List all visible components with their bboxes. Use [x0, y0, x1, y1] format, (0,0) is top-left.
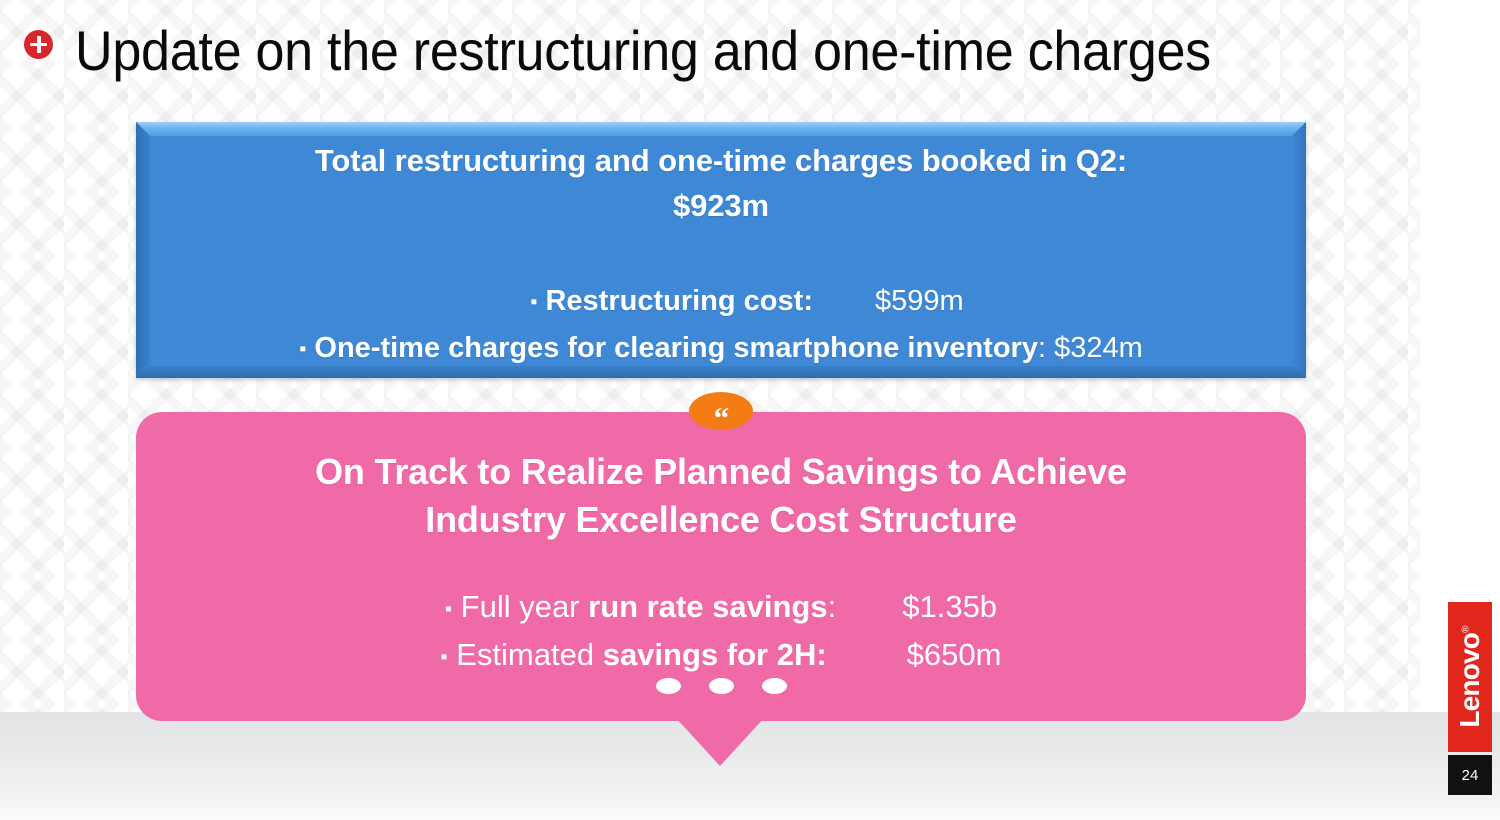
pink-bullet-1-value: $1.35b: [902, 589, 997, 624]
quote-mark-badge: “: [689, 392, 753, 430]
pink-bullet-1-separator: :: [828, 589, 837, 624]
red-plus-circle-icon: [24, 30, 53, 59]
dot-1: [656, 678, 681, 694]
pink-panel-dots: [136, 678, 1306, 694]
blue-panel-bevel-top: [136, 122, 1306, 136]
pink-bullet-1-label: run rate savings: [588, 589, 827, 624]
pink-savings-panel: On Track to Realize Planned Savings to A…: [136, 412, 1306, 721]
pink-panel-heading-line1: On Track to Realize Planned Savings to A…: [166, 448, 1276, 496]
blue-bullet-1-separator: :: [803, 285, 813, 317]
pink-bullet-row-1: ▪ Full year run rate savings:$1.35b: [166, 584, 1276, 632]
square-bullet-icon: ▪: [445, 598, 452, 620]
page-title: Update on the restructuring and one-time…: [75, 14, 1211, 88]
pink-bullet-2-value: $650m: [907, 637, 1002, 672]
dot-3: [762, 678, 787, 694]
slide-canvas: Update on the restructuring and one-time…: [0, 0, 1500, 820]
pink-panel-content: On Track to Realize Planned Savings to A…: [166, 448, 1276, 680]
pink-bullet-1-prefix: Full year: [461, 589, 588, 624]
blue-panel-bevel-left: [136, 122, 150, 378]
square-bullet-icon: ▪: [299, 338, 306, 360]
blue-bullet-1-value: $599m: [875, 285, 964, 317]
lenovo-logo: Lenovo®: [1448, 602, 1492, 752]
pink-bullet-row-2: ▪ Estimated savings for 2H:$650m: [166, 632, 1276, 680]
blue-bullet-2-value: $324m: [1054, 332, 1143, 364]
pink-bullet-2-separator: :: [816, 637, 826, 672]
blue-bullet-2-label: One-time charges for clearing smartphone…: [314, 332, 1038, 364]
pink-bullet-2-label: savings for 2H: [603, 637, 817, 672]
slide-title-row: Update on the restructuring and one-time…: [20, 14, 1420, 92]
blue-bullet-1-label: Restructuring cost: [545, 285, 803, 317]
quote-mark-icon: “: [714, 402, 729, 433]
trademark-icon: ®: [1461, 626, 1472, 633]
lenovo-wordmark-text: Lenovo: [1454, 633, 1485, 728]
dot-2: [709, 678, 734, 694]
blue-panel-content: Total restructuring and one-time charges…: [154, 138, 1288, 364]
blue-panel-bevel-right: [1292, 122, 1306, 378]
pink-panel-bullet-list: ▪ Full year run rate savings:$1.35b ▪ Es…: [166, 584, 1276, 680]
blue-panel-bullet-list: ▪ Restructuring cost:$599m ▪ One-time ch…: [154, 278, 1288, 372]
pink-bullet-2-prefix: Estimated: [456, 637, 602, 672]
pink-panel-heading-line2: Industry Excellence Cost Structure: [166, 496, 1276, 544]
blue-bullet-row-1: ▪ Restructuring cost:$599m: [154, 278, 1288, 325]
blue-panel-heading-line1: Total restructuring and one-time charges…: [154, 138, 1288, 183]
blue-bullet-row-2: ▪ One-time charges for clearing smartpho…: [154, 325, 1288, 372]
blue-panel-heading-line2: $923m: [154, 183, 1288, 228]
pink-panel-tail: [676, 718, 764, 766]
lenovo-wordmark: Lenovo®: [1454, 626, 1486, 727]
square-bullet-icon: ▪: [441, 646, 448, 668]
blue-bullet-2-separator: :: [1038, 332, 1046, 364]
square-bullet-icon: ▪: [530, 291, 537, 313]
blue-summary-panel: Total restructuring and one-time charges…: [136, 122, 1306, 378]
page-number-badge: 24: [1448, 755, 1492, 795]
